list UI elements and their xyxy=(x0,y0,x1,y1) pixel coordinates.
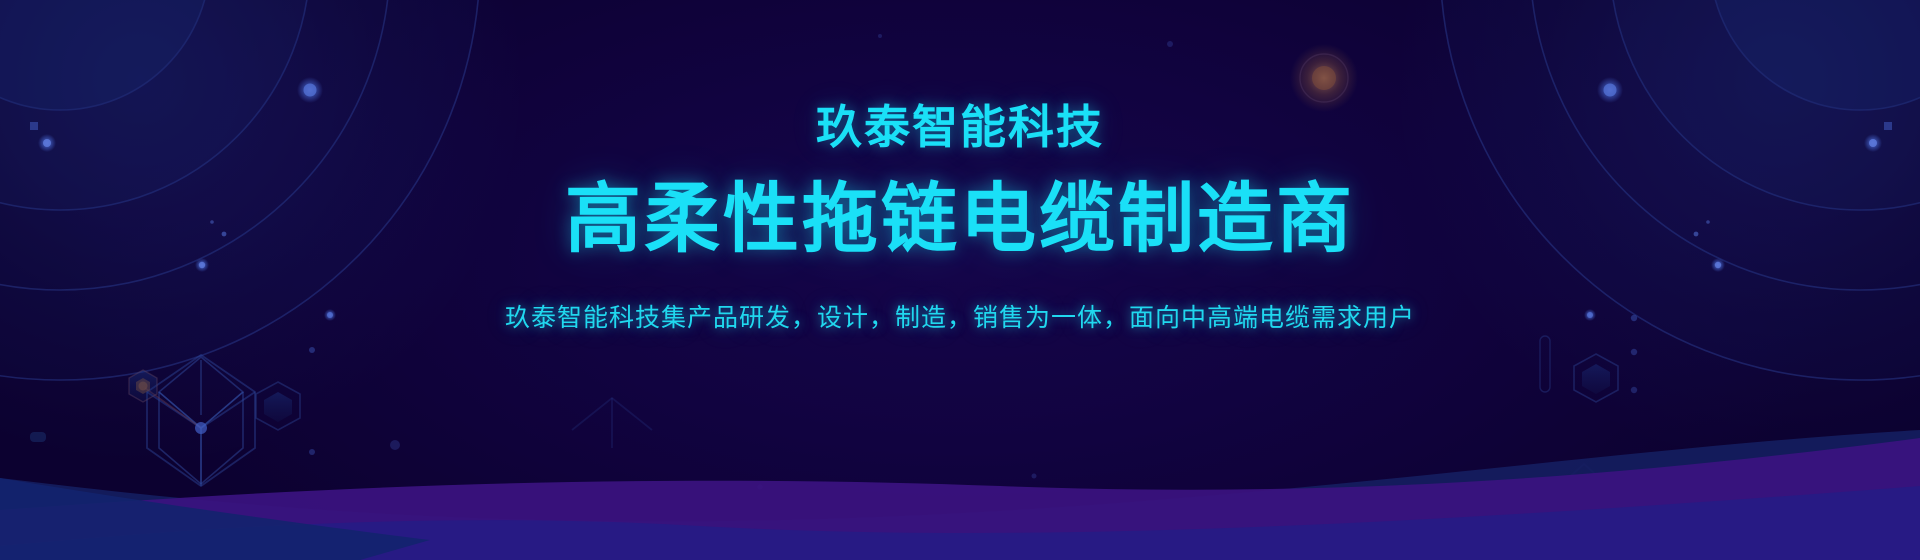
headline-title: 高柔性拖链电缆制造商 xyxy=(565,182,1355,258)
hero-banner: 玖泰智能科技 高柔性拖链电缆制造商 玖泰智能科技集产品研发，设计，制造，销售为一… xyxy=(0,0,1920,560)
banner-text-block: 玖泰智能科技 高柔性拖链电缆制造商 玖泰智能科技集产品研发，设计，制造，销售为一… xyxy=(0,0,1920,560)
tagline-text: 玖泰智能科技集产品研发，设计，制造，销售为一体，面向中高端电缆需求用户 xyxy=(505,302,1415,335)
brand-name: 玖泰智能科技 xyxy=(816,104,1104,150)
